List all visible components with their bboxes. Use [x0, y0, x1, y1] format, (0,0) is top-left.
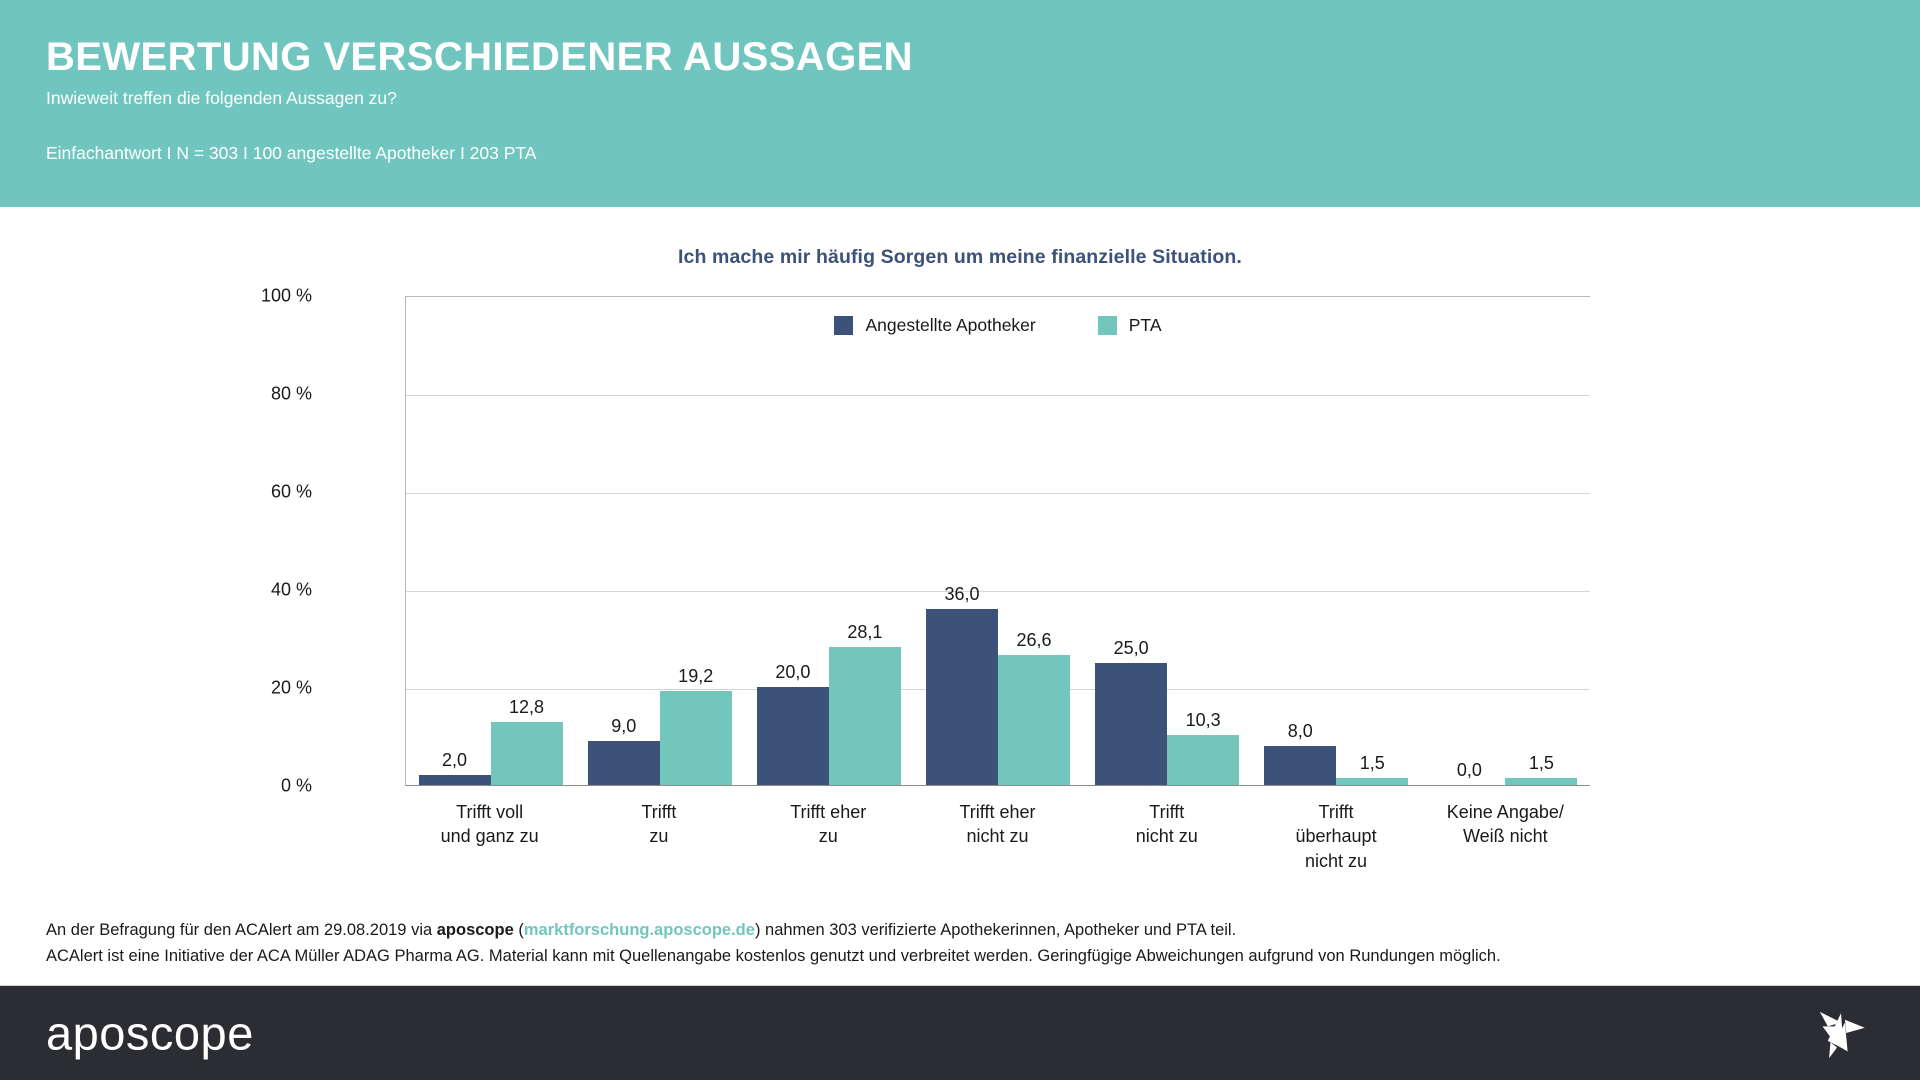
bar-value-label: 10,3	[1186, 710, 1221, 731]
bar-groups: 2,012,89,019,220,028,136,026,625,010,38,…	[406, 297, 1590, 785]
x-axis-category-line: Trifft eher	[748, 800, 909, 824]
bar-slot: 10,3	[1167, 297, 1239, 785]
bar[interactable]: 20,0	[757, 687, 829, 785]
bar-value-label: 1,5	[1529, 753, 1554, 774]
x-axis-category-line: Trifft	[578, 800, 739, 824]
x-axis-category-label: Trifftüberhauptnicht zu	[1251, 800, 1420, 873]
survey-meta: Einfachantwort I N = 303 I 100 angestell…	[46, 143, 1920, 164]
bar-slot: 2,0	[419, 297, 491, 785]
legend-swatch-icon	[834, 316, 853, 335]
x-axis-category-line: nicht zu	[1086, 824, 1247, 848]
bar-group: 0,01,5	[1421, 297, 1590, 785]
bar-slot: 20,0	[757, 297, 829, 785]
y-axis-tick-label: 20 %	[271, 678, 312, 699]
bar-slot: 12,8	[491, 297, 563, 785]
bar[interactable]: 8,0	[1264, 746, 1336, 785]
bar-value-label: 19,2	[678, 666, 713, 687]
chart-title: Ich mache mir häufig Sorgen um meine fin…	[0, 246, 1920, 269]
bar-slot: 0,0	[1433, 297, 1505, 785]
x-axis-category-line: Keine Angabe/	[1425, 800, 1586, 824]
bar[interactable]: 10,3	[1167, 735, 1239, 785]
bar-value-label: 20,0	[775, 662, 810, 683]
x-axis-category-label: Trifftzu	[574, 800, 743, 873]
footnote-text-b: (	[514, 921, 524, 939]
footnote: An der Befragung für den ACAlert am 29.0…	[46, 918, 1876, 969]
bar[interactable]: 1,5	[1505, 778, 1577, 785]
bar-value-label: 25,0	[1114, 638, 1149, 659]
y-axis-tick-label: 60 %	[271, 482, 312, 503]
bar-value-label: 28,1	[847, 622, 882, 643]
y-axis-tick-label: 40 %	[271, 580, 312, 601]
x-axis-category-line: überhaupt	[1255, 824, 1416, 848]
bar[interactable]: 12,8	[491, 722, 563, 785]
bar-slot: 1,5	[1505, 297, 1577, 785]
x-axis-category-line: zu	[578, 824, 739, 848]
legend-item[interactable]: Angestellte Apotheker	[834, 315, 1035, 336]
bar-group: 9,019,2	[575, 297, 744, 785]
bar-value-label: 8,0	[1288, 721, 1313, 742]
bar-slot: 8,0	[1264, 297, 1336, 785]
bar-slot: 36,0	[926, 297, 998, 785]
footnote-link[interactable]: marktforschung.aposcope.de	[524, 921, 755, 939]
bar[interactable]: 36,0	[926, 609, 998, 785]
y-axis-tick-label: 80 %	[271, 384, 312, 405]
footnote-line-2: ACAlert ist eine Initiative der ACA Müll…	[46, 944, 1876, 970]
chart-container: 0 %20 %40 %60 %80 %100 % Angestellte Apo…	[320, 296, 1590, 786]
bar-value-label: 26,6	[1016, 630, 1051, 651]
header-band: BEWERTUNG VERSCHIEDENER AUSSAGEN Inwiewe…	[0, 0, 1920, 207]
x-axis-category-line: Trifft	[1086, 800, 1247, 824]
bar[interactable]: 19,2	[660, 691, 732, 785]
bar-slot: 1,5	[1336, 297, 1408, 785]
bar-value-label: 0,0	[1457, 760, 1482, 781]
y-axis-labels: 0 %20 %40 %60 %80 %100 %	[230, 296, 312, 786]
bar-group: 36,026,6	[913, 297, 1082, 785]
footnote-text-a: An der Befragung für den ACAlert am 29.0…	[46, 921, 437, 939]
legend-swatch-icon	[1098, 316, 1117, 335]
bar-group: 8,01,5	[1252, 297, 1421, 785]
x-axis-category-label: Trifft vollund ganz zu	[405, 800, 574, 873]
x-axis-category-label: Keine Angabe/Weiß nicht	[1421, 800, 1590, 873]
bar-group: 25,010,3	[1083, 297, 1252, 785]
x-axis-labels: Trifft vollund ganz zuTrifftzuTrifft ehe…	[405, 800, 1590, 873]
x-axis-category-label: Trifft eherzu	[744, 800, 913, 873]
bar-value-label: 1,5	[1360, 753, 1385, 774]
y-axis-tick-label: 100 %	[261, 286, 312, 307]
x-axis-category-line: nicht zu	[1255, 849, 1416, 873]
bar-group: 2,012,8	[406, 297, 575, 785]
x-axis-category-line: und ganz zu	[409, 824, 570, 848]
legend-item[interactable]: PTA	[1098, 315, 1162, 336]
plot-area: Angestellte ApothekerPTA 2,012,89,019,22…	[405, 296, 1590, 786]
x-axis-category-label: Trifftnicht zu	[1082, 800, 1251, 873]
legend-label: PTA	[1129, 315, 1162, 336]
bar-value-label: 2,0	[442, 750, 467, 771]
aposcope-wordmark: aposcope	[46, 1006, 254, 1061]
y-axis-tick-label: 0 %	[281, 776, 312, 797]
x-axis-category-line: zu	[748, 824, 909, 848]
bar[interactable]: 25,0	[1095, 663, 1167, 786]
footnote-text-c: ) nahmen 303 verifizierte Apothekerinnen…	[755, 921, 1236, 939]
bar-group: 20,028,1	[744, 297, 913, 785]
bar-slot: 19,2	[660, 297, 732, 785]
bottom-brand-bar: aposcope	[0, 986, 1920, 1080]
x-axis-category-line: Trifft	[1255, 800, 1416, 824]
bar[interactable]: 26,6	[998, 655, 1070, 785]
bar-value-label: 12,8	[509, 697, 544, 718]
footnote-brand: aposcope	[437, 921, 514, 939]
chart-legend: Angestellte ApothekerPTA	[406, 315, 1590, 336]
x-axis-category-line: nicht zu	[917, 824, 1078, 848]
x-axis-category-line: Trifft voll	[409, 800, 570, 824]
bar-slot: 25,0	[1095, 297, 1167, 785]
x-axis-category-label: Trifft ehernicht zu	[913, 800, 1082, 873]
origami-bird-icon	[1808, 1000, 1874, 1066]
x-axis-category-line: Weiß nicht	[1425, 824, 1586, 848]
bar-slot: 26,6	[998, 297, 1070, 785]
slide-root: BEWERTUNG VERSCHIEDENER AUSSAGEN Inwiewe…	[0, 0, 1920, 1080]
bar[interactable]: 28,1	[829, 647, 901, 785]
legend-label: Angestellte Apotheker	[865, 315, 1035, 336]
bar-value-label: 36,0	[944, 584, 979, 605]
page-title: BEWERTUNG VERSCHIEDENER AUSSAGEN	[46, 36, 1920, 78]
bar[interactable]: 2,0	[419, 775, 491, 785]
bar-slot: 9,0	[588, 297, 660, 785]
bar[interactable]: 9,0	[588, 741, 660, 785]
bar[interactable]: 1,5	[1336, 778, 1408, 785]
x-axis-category-line: Trifft eher	[917, 800, 1078, 824]
footnote-line-1: An der Befragung für den ACAlert am 29.0…	[46, 918, 1876, 944]
bar-slot: 28,1	[829, 297, 901, 785]
bar-value-label: 9,0	[611, 716, 636, 737]
page-subtitle: Inwieweit treffen die folgenden Aussagen…	[46, 88, 1920, 109]
